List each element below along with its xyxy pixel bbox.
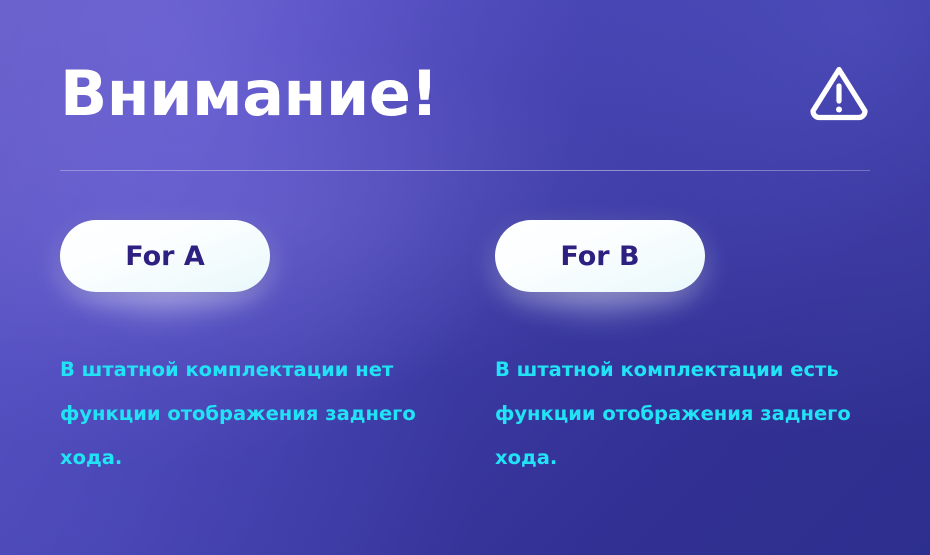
pill-glow-wrapper-a: For A [60,220,270,292]
columns-container: For A В штатной комплектации нет функции… [60,220,870,480]
header-divider [60,170,870,171]
for-a-description: В штатной комплектации нет функции отобр… [60,348,450,480]
warning-slide: Внимание! For A В штатной комплектации н… [0,0,930,555]
pill-glow-wrapper-b: For B [495,220,705,292]
page-title: Внимание! [60,48,438,140]
slide-header: Внимание! [60,48,870,144]
for-a-button[interactable]: For A [60,220,270,292]
for-b-button[interactable]: For B [495,220,705,292]
for-b-description: В штатной комплектации есть функции отоб… [495,348,870,480]
column-for-a: For A В штатной комплектации нет функции… [60,220,495,480]
column-for-b: For B В штатной комплектации есть функци… [495,220,870,480]
warning-triangle-icon [808,62,870,122]
